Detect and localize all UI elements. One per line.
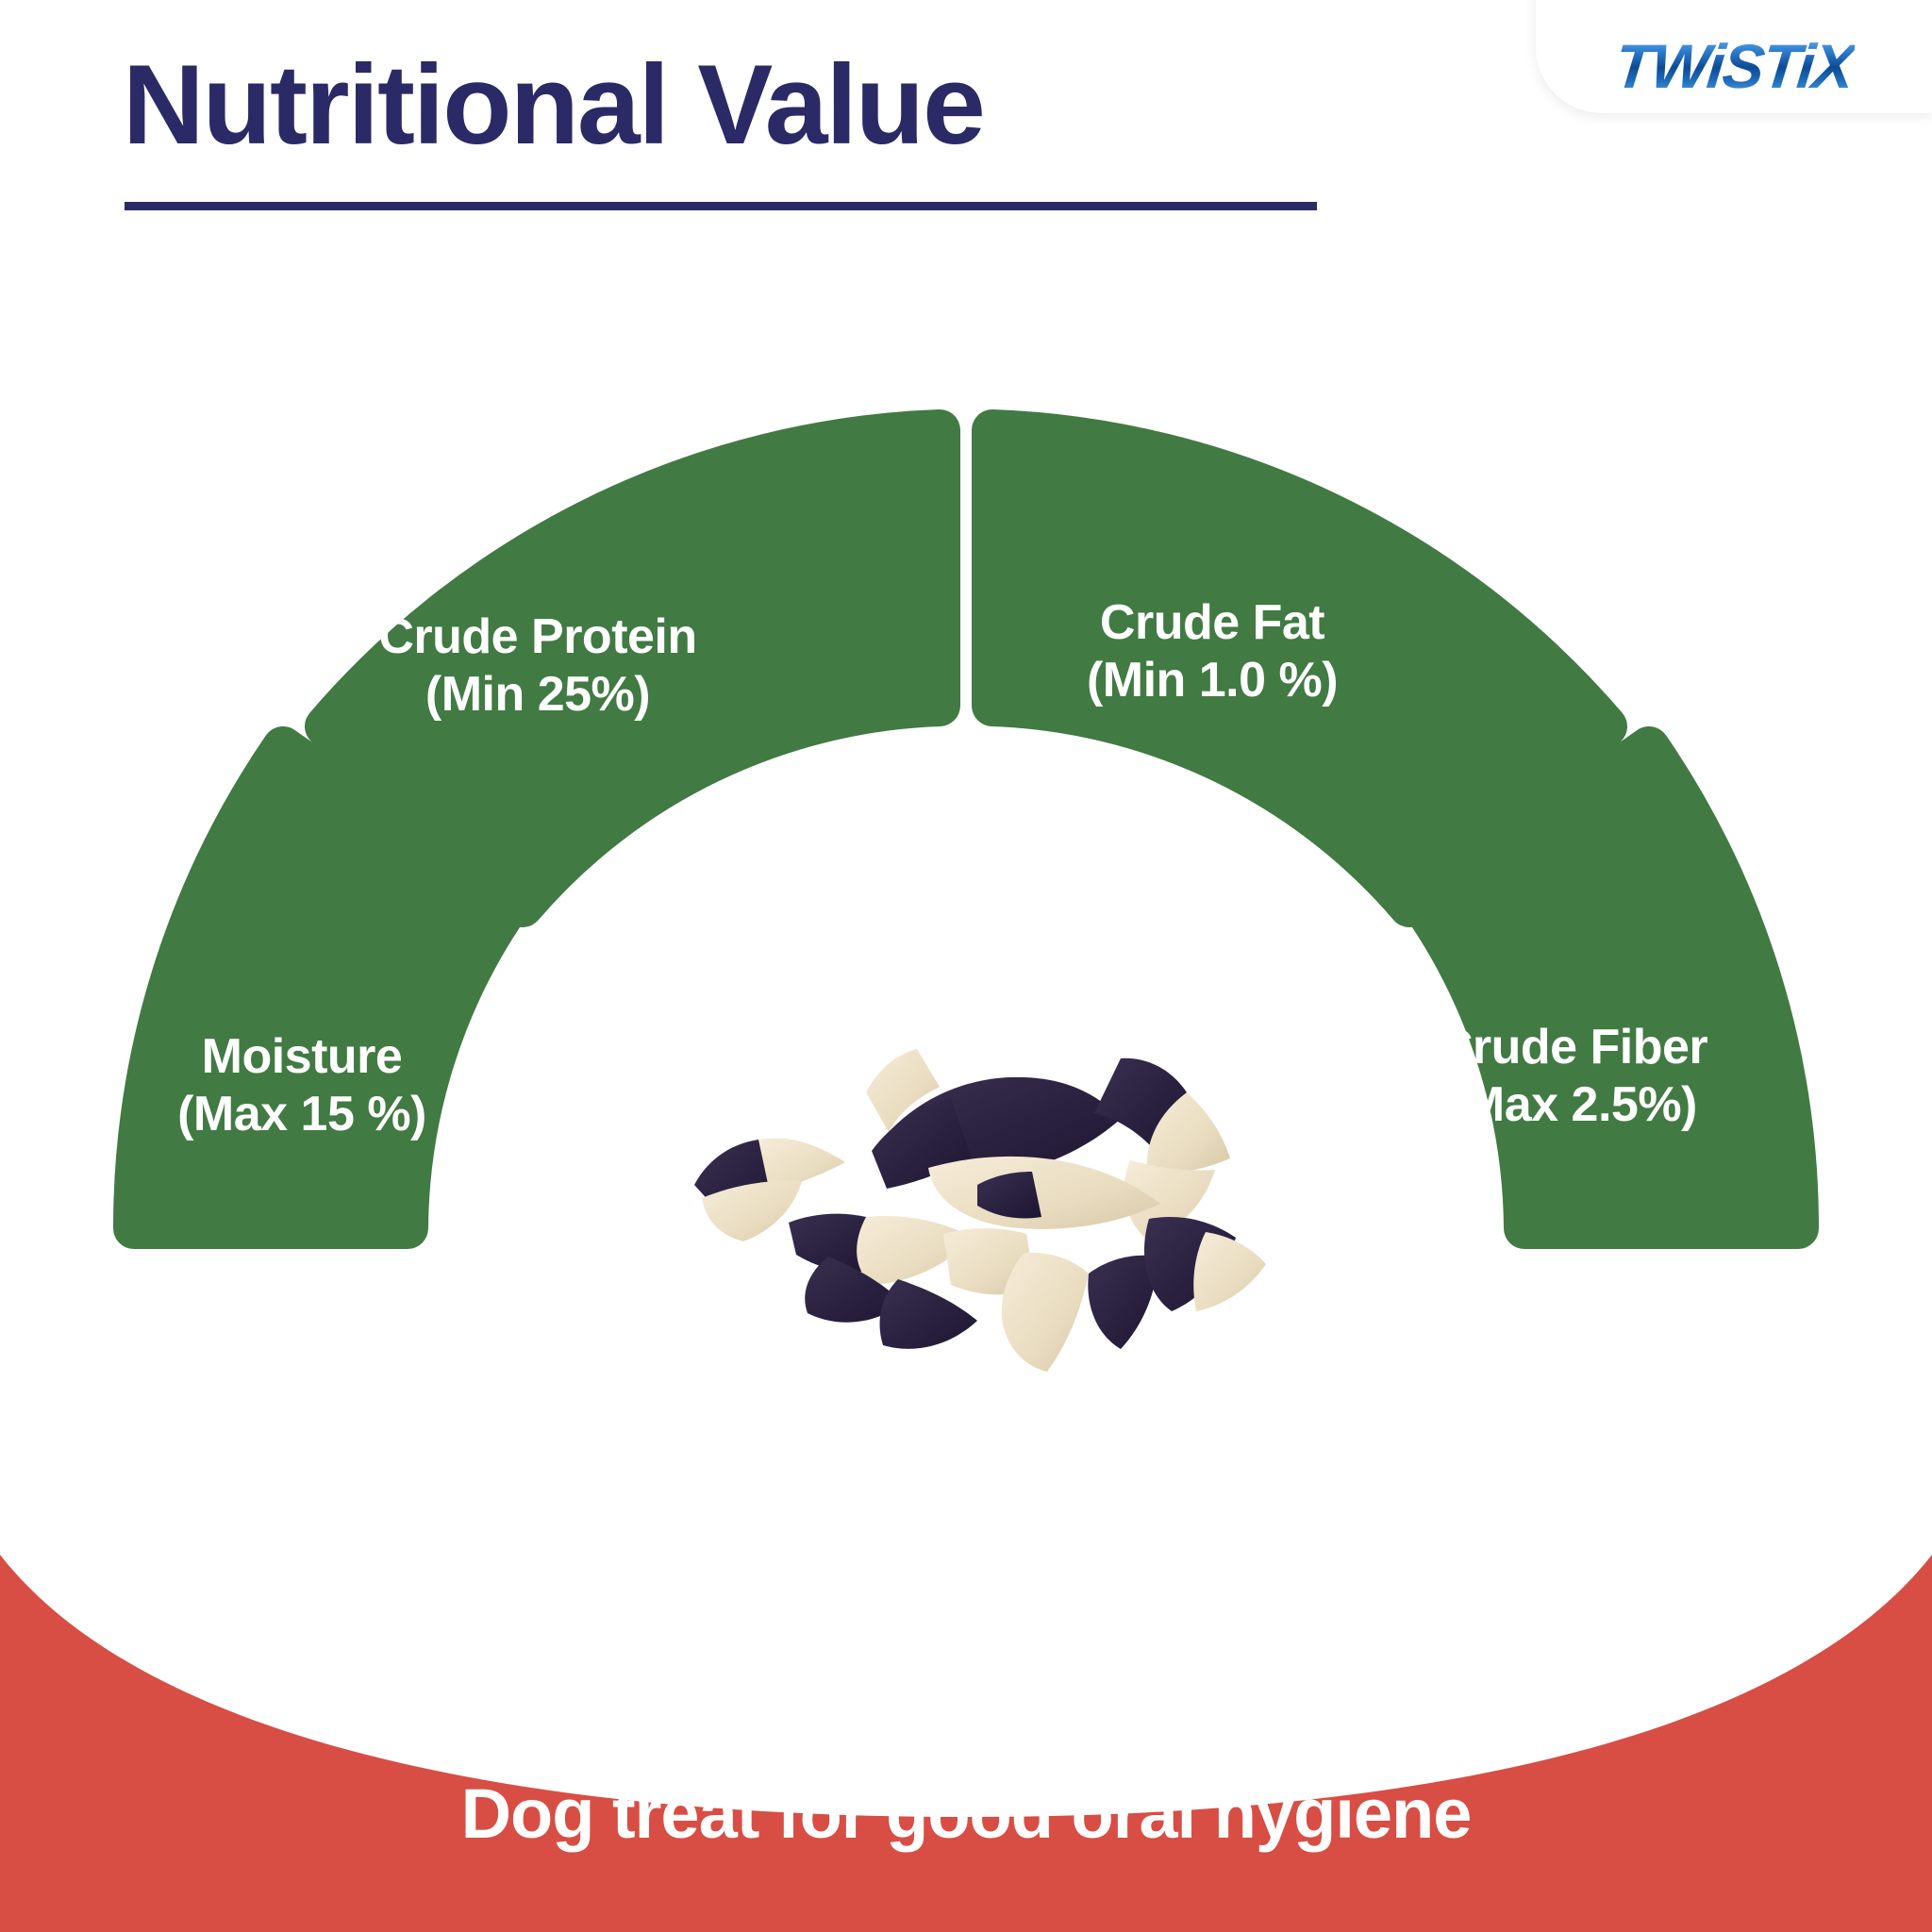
segment-label-crude-fat-line2: (Min 1.0 %) <box>1024 652 1401 709</box>
infographic-page: Nutritional Value TWiSTiX <box>0 0 1932 1932</box>
segment-label-moisture-line1: Moisture <box>202 1029 403 1084</box>
segment-label-crude-fat-line1: Crude Fat <box>1100 595 1324 650</box>
segment-label-moisture: Moisture (Max 15 %) <box>104 1028 500 1144</box>
segment-label-crude-fat: Crude Fat (Min 1.0 %) <box>1024 594 1401 710</box>
brand-logo-text: TWiSTiX <box>1611 30 1857 102</box>
segment-label-crude-fiber-line1: Crude Fiber <box>1438 1020 1707 1074</box>
segment-label-crude-protein-line2: (Min 25%) <box>340 666 736 724</box>
segment-label-crude-protein: Crude Protein (Min 25%) <box>340 608 736 724</box>
title-underline-rule <box>125 202 1317 210</box>
product-photo-dog-treats <box>677 1000 1281 1377</box>
brand-logo: TWiSTiX <box>1536 0 1932 113</box>
footer-tagline: Dog treat for good oral hygiene <box>0 1774 1932 1854</box>
footer-banner: Dog treat for good oral hygiene <box>0 1555 1932 1932</box>
segment-label-crude-protein-line1: Crude Protein <box>378 609 696 664</box>
segment-label-crude-fiber-line2: (Max 2.5%) <box>1370 1076 1775 1134</box>
page-title: Nutritional Value <box>123 45 984 164</box>
segment-label-crude-fiber: Crude Fiber (Max 2.5%) <box>1370 1019 1775 1135</box>
segment-label-moisture-line2: (Max 15 %) <box>104 1086 500 1143</box>
